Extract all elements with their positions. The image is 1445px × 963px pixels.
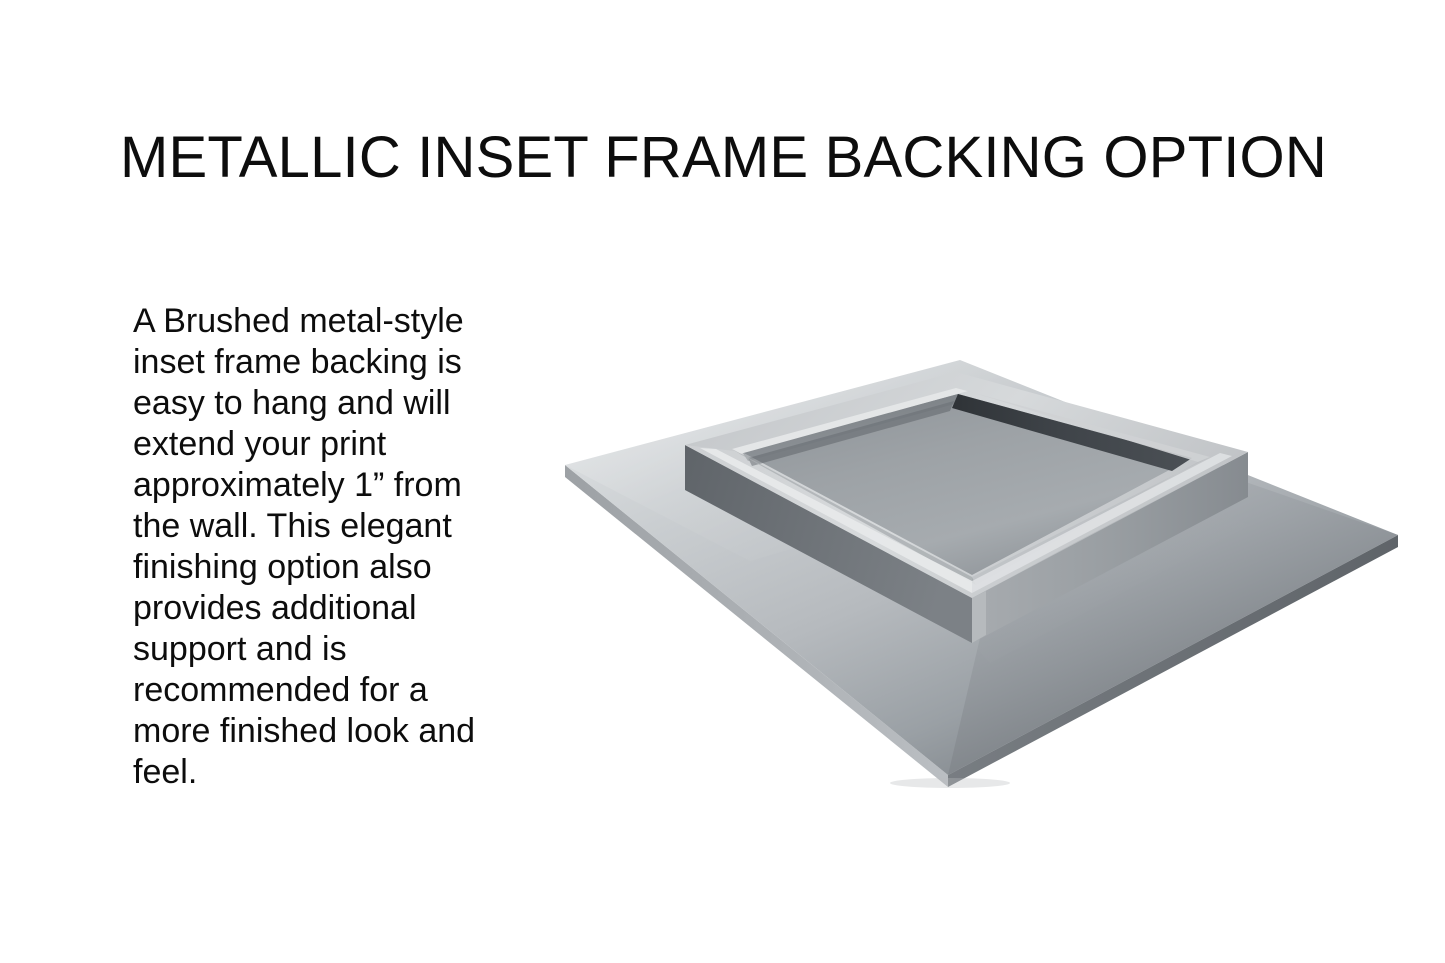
description-paragraph: A Brushed metal-style inset frame backin… [133,301,483,793]
plate-contact-shadow [890,778,1010,788]
page-title: METALLIC INSET FRAME BACKING OPTION [120,127,1327,190]
slide-canvas: METALLIC INSET FRAME BACKING OPTION A Br… [0,0,1445,963]
inset-frame-illustration [520,325,1420,825]
product-image [520,325,1420,825]
frame-corner-bevel [972,591,986,643]
